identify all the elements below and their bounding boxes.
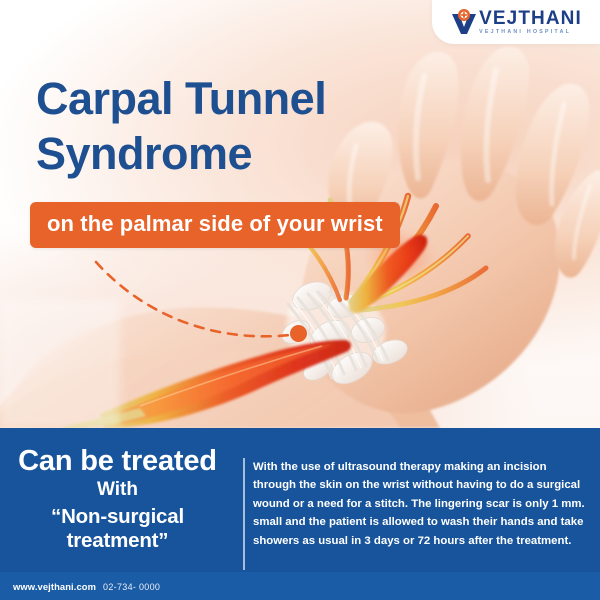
treatment-method: “Non-surgical treatment” bbox=[0, 505, 235, 552]
logo-name: VEJTHANI bbox=[479, 9, 582, 28]
subtitle-ribbon: on the palmar side of your wrist bbox=[30, 202, 400, 248]
footer-contact: www.vejthani.com 02-734- 0000 bbox=[0, 581, 160, 592]
treatment-connector: With bbox=[0, 476, 235, 505]
page-title: Carpal Tunnel Syndrome bbox=[36, 72, 436, 182]
treatment-title: Can be treated bbox=[0, 446, 235, 476]
treatment-headline-group: Can be treated With “Non-surgical treatm… bbox=[0, 446, 235, 552]
vertical-divider bbox=[243, 458, 245, 570]
footer-bar: www.vejthani.com 02-734- 0000 bbox=[0, 572, 600, 600]
headline-line-1: Carpal Tunnel bbox=[36, 73, 326, 124]
headline-line-2: Syndrome bbox=[36, 127, 436, 182]
footer-phone[interactable]: 02-734- 0000 bbox=[103, 582, 160, 592]
poster: Carpal Tunnel Syndrome on the palmar sid… bbox=[0, 0, 600, 600]
incision-point-dot bbox=[290, 325, 307, 342]
treatment-description: With the use of ultrasound therapy makin… bbox=[253, 458, 587, 550]
vejthani-logo: VEJTHANI Vejthani Hospital bbox=[450, 9, 582, 35]
hero-section: Carpal Tunnel Syndrome on the palmar sid… bbox=[0, 0, 600, 428]
footer-website[interactable]: www.vejthani.com bbox=[13, 581, 96, 592]
logo-panel: VEJTHANI Vejthani Hospital bbox=[432, 0, 600, 44]
vejthani-v-cross-icon bbox=[450, 9, 478, 35]
treatment-band: Can be treated With “Non-surgical treatm… bbox=[0, 428, 600, 572]
logo-wordmark: VEJTHANI Vejthani Hospital bbox=[479, 9, 582, 35]
logo-tagline: Vejthani Hospital bbox=[479, 30, 582, 35]
